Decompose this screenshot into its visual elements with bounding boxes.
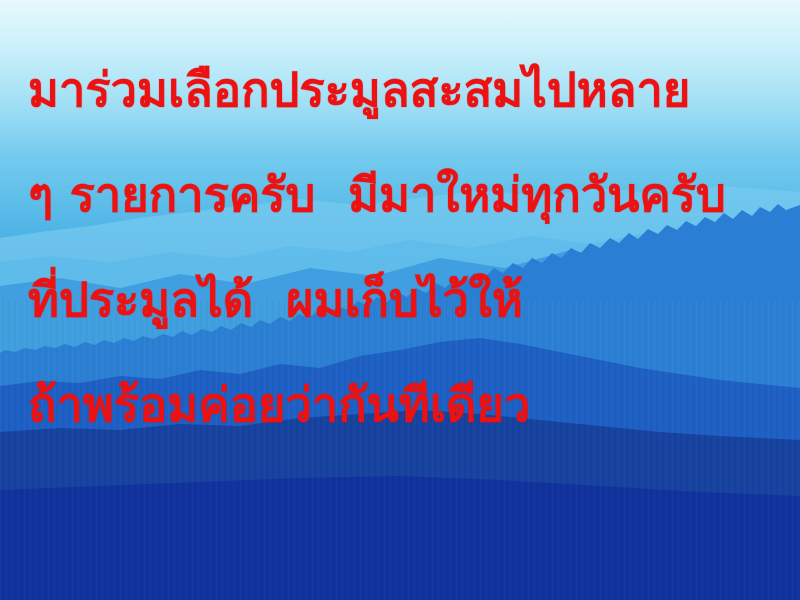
screenshot-canvas: มาร่วมเลือกประมูลสะสมไปหลาย ๆ รายการครับ…	[0, 0, 800, 600]
caption-line-2: ๆ รายการครับ มีมาใหม่ทุกวันครับ	[28, 143, 800, 248]
caption-line-4: ถ้าพร้อมค่อยว่ากันทีเดียว	[28, 353, 800, 458]
caption-overlay: มาร่วมเลือกประมูลสะสมไปหลาย ๆ รายการครับ…	[0, 0, 800, 600]
caption-line-3: ที่ประมูลได้ ผมเก็บไว้ให้	[28, 248, 800, 353]
caption-line-1: มาร่วมเลือกประมูลสะสมไปหลาย	[28, 38, 800, 143]
